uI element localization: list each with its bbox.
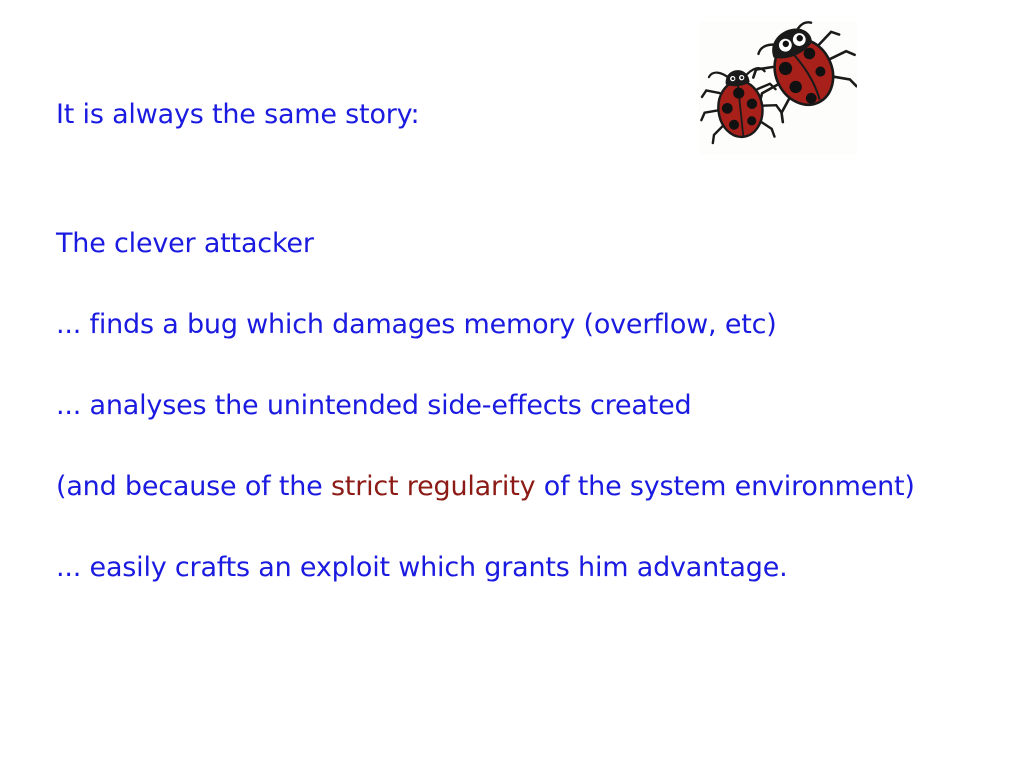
line-aside: (and because of the strict regularity of…	[56, 446, 956, 527]
aside-highlight: strict regularity	[331, 471, 535, 502]
aside-text-after: of the system environment)	[535, 471, 914, 502]
slide-text-block: It is always the same story: The clever …	[56, 74, 956, 608]
line-intro: It is always the same story:	[56, 74, 956, 155]
line-subject: The clever attacker	[56, 203, 956, 284]
aside-text-before: (and because of the	[56, 471, 331, 502]
line-step-two: ... analyses the unintended side-effects…	[56, 365, 956, 446]
line-step-one: ... finds a bug which damages memory (ov…	[56, 284, 956, 365]
line-step-three: ... easily crafts an exploit which grant…	[56, 527, 956, 608]
slide-canvas: It is always the same story: The clever …	[0, 0, 1024, 768]
